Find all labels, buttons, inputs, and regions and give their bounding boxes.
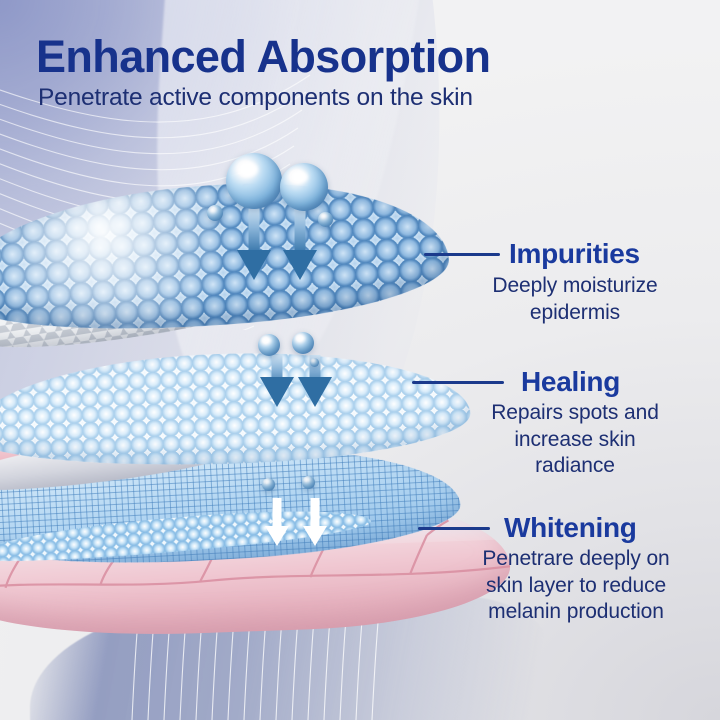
callout-body-line: Penetrare deeply on [440, 546, 712, 573]
arrow-stem [295, 208, 306, 251]
arrow-head [283, 250, 317, 280]
callout-body-whitening: Penetrare deeply on skin layer to reduce… [440, 546, 712, 626]
callout-body-impurities: Deeply moisturize epidermis [440, 273, 710, 326]
leader-line-healing [412, 381, 504, 384]
epidermis-bead-layer [0, 169, 452, 343]
white-arrow-right [300, 498, 330, 546]
arrow-stem [311, 498, 320, 526]
arrow-head [237, 250, 271, 280]
white-arrow-left [262, 498, 292, 546]
droplet-top-large-2 [280, 163, 328, 211]
droplet-top-small-1 [207, 205, 223, 221]
callout-body-line: skin layer to reduce [440, 573, 712, 600]
callout-body-healing: Repairs spots and increase skin radiance [440, 400, 710, 480]
callout-title-impurities: Impurities [509, 238, 640, 270]
leader-line-impurities [424, 253, 500, 256]
droplet-mid-3 [310, 358, 319, 367]
droplet-top-large-1 [226, 153, 282, 209]
mid-bead-layer [0, 345, 472, 472]
callout-title-whitening: Whitening [504, 512, 637, 544]
droplet-deep-2 [302, 476, 315, 489]
leader-line-whitening [418, 527, 490, 530]
arrow-head [298, 377, 332, 407]
callout-body-line: radiance [440, 453, 710, 480]
droplet-top-small-2 [318, 212, 333, 227]
mid-bead-sheet [0, 345, 472, 472]
droplet-mid-1 [258, 334, 280, 356]
callout-body-line: Repairs spots and [440, 400, 710, 427]
epidermis-bead-sheet [0, 169, 452, 343]
callout-title-healing: Healing [521, 366, 620, 398]
arrow-head [265, 526, 289, 546]
arrow-stem [249, 208, 260, 251]
arrow-head [303, 526, 327, 546]
callout-body-line: melanin production [440, 599, 712, 626]
arrow-head [260, 377, 294, 407]
blue-arrow-top-left [232, 208, 276, 280]
droplet-deep-1 [262, 478, 275, 491]
callout-body-line: increase skin [440, 427, 710, 454]
arrow-stem [273, 498, 282, 526]
callout-body-line: Deeply moisturize [440, 273, 710, 300]
blue-arrow-mid-left [258, 355, 296, 407]
blue-arrow-top-right [278, 208, 322, 280]
callout-body-line: epidermis [440, 300, 710, 327]
poster-root: Enhanced Absorption Penetrate active com… [0, 0, 720, 720]
droplet-mid-2 [292, 332, 314, 354]
